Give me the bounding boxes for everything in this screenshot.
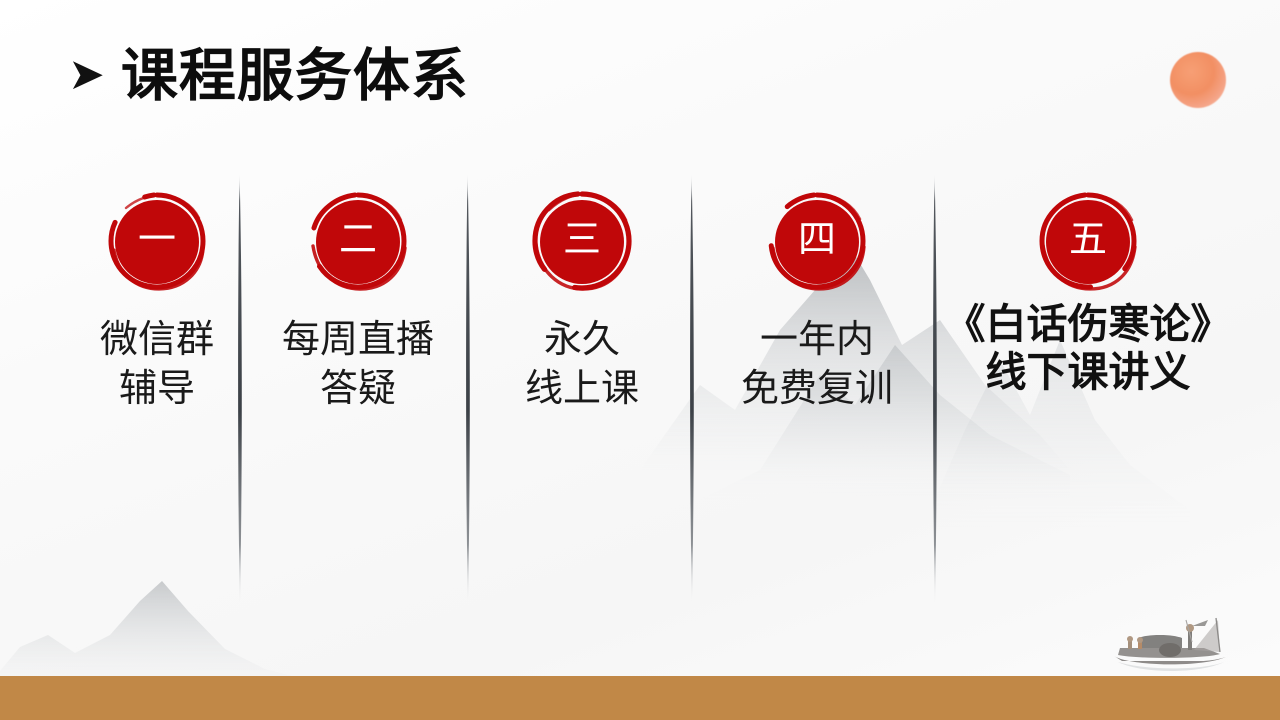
number-badge-1: 一 [106, 190, 208, 292]
service-label-2: 每周直播 答疑 [282, 316, 434, 415]
slide-canvas: ➤ 课程服务体系 [0, 0, 1280, 720]
service-label-5: 《白话伤寒论》线下课讲义 [938, 300, 1238, 397]
service-item-1[interactable]: 一 微信群 辅导 [55, 190, 259, 415]
badge-number-label: 二 [339, 221, 377, 259]
service-item-4[interactable]: 四 一年内 免费复训 [705, 190, 929, 415]
number-badge-4: 四 [766, 190, 868, 292]
badge-number-label: 四 [798, 221, 836, 259]
badge-number-label: 三 [563, 221, 601, 259]
badge-number-label: 一 [138, 221, 176, 259]
service-item-3[interactable]: 三 永久 线上课 [480, 190, 684, 415]
service-label-1: 微信群 辅导 [100, 316, 214, 415]
service-columns: 一 微信群 辅导 二 每周直播 答疑 [0, 0, 1280, 720]
service-label-3: 永久 线上课 [525, 316, 639, 415]
service-item-2[interactable]: 二 每周直播 答疑 [248, 190, 468, 415]
number-badge-5: 五 [1037, 190, 1139, 292]
service-label-4: 一年内 免费复训 [741, 316, 893, 415]
service-item-5[interactable]: 五 《白话伤寒论》线下课讲义 [938, 190, 1238, 397]
badge-number-label: 五 [1069, 221, 1107, 259]
number-badge-3: 三 [531, 190, 633, 292]
number-badge-2: 二 [307, 190, 409, 292]
